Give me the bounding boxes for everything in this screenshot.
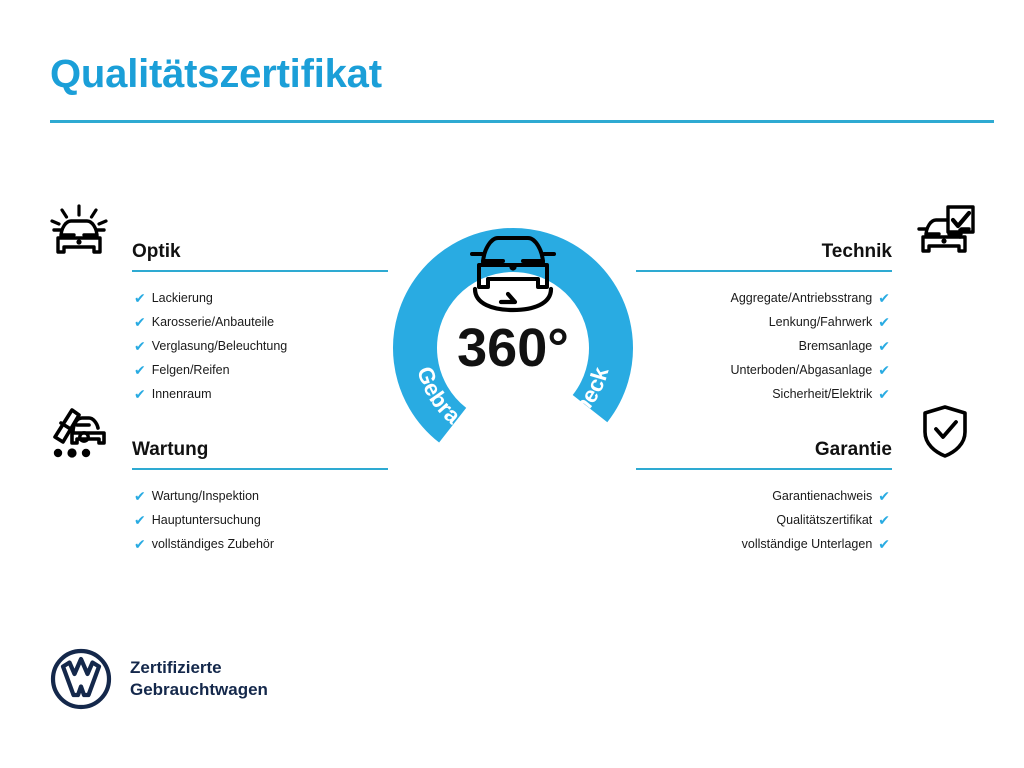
check-icon: ✔ <box>878 537 890 551</box>
list-item: Aggregate/Antriebsstrang✔ <box>636 286 976 310</box>
check-icon: ✔ <box>134 537 146 551</box>
section-garantie-title: Garantie <box>636 439 892 468</box>
section-technik-divider <box>636 270 892 272</box>
car-service-tool-icon <box>48 402 110 460</box>
section-technik-title-wrap: Technik <box>636 241 892 272</box>
section-technik-list: Aggregate/Antriebsstrang✔ Lenkung/Fahrwe… <box>636 286 976 406</box>
list-item-label: Lackierung <box>152 286 213 310</box>
check-icon: ✔ <box>878 315 890 329</box>
list-item: Qualitätszertifikat✔ <box>636 508 976 532</box>
qualitaetszertifikat-page: Qualitätszertifikat <box>0 0 1024 768</box>
page-title: Qualitätszertifikat <box>50 52 994 96</box>
section-optik-list: ✔Lackierung ✔Karosserie/Anbauteile ✔Verg… <box>48 286 388 406</box>
shield-check-icon <box>914 402 976 460</box>
list-item-label: Bremsanlage <box>799 334 873 358</box>
list-item: ✔Wartung/Inspektion <box>48 484 388 508</box>
check-icon: ✔ <box>878 339 890 353</box>
section-technik-head: Technik <box>636 200 976 272</box>
check-icon: ✔ <box>878 363 890 377</box>
section-technik-title: Technik <box>636 241 892 270</box>
section-garantie-divider <box>636 468 892 470</box>
section-wartung-divider <box>132 468 388 470</box>
section-wartung-title-wrap: Wartung <box>132 439 388 470</box>
list-item: ✔Felgen/Reifen <box>48 358 388 382</box>
list-item-label: Karosserie/Anbauteile <box>152 310 274 334</box>
section-optik-title-wrap: Optik <box>132 241 388 272</box>
list-item: ✔vollständiges Zubehör <box>48 532 388 556</box>
section-wartung-list: ✔Wartung/Inspektion ✔Hauptuntersuchung ✔… <box>48 484 388 556</box>
list-item: Garantienachweis✔ <box>636 484 976 508</box>
check-icon: ✔ <box>134 363 146 377</box>
list-item: Bremsanlage✔ <box>636 334 976 358</box>
list-item-label: vollständiges Zubehör <box>152 532 274 556</box>
list-item-label: Unterboden/Abgasanlage <box>730 358 872 382</box>
list-item-label: Lenkung/Fahrwerk <box>769 310 873 334</box>
list-item-label: Felgen/Reifen <box>152 358 230 382</box>
section-garantie: Garantie Garantienachweis✔ Qualitätszert… <box>636 398 976 556</box>
check-icon: ✔ <box>134 513 146 527</box>
check-icon: ✔ <box>134 489 146 503</box>
check-icon: ✔ <box>134 315 146 329</box>
list-item-label: Aggregate/Antriebsstrang <box>731 286 873 310</box>
section-optik-title: Optik <box>132 241 388 270</box>
section-wartung-head: Wartung <box>48 398 388 470</box>
list-item: Lenkung/Fahrwerk✔ <box>636 310 976 334</box>
page-header: Qualitätszertifikat <box>50 52 994 123</box>
list-item-label: Verglasung/Beleuchtung <box>152 334 288 358</box>
brand-line-1: Zertifizierte <box>130 657 268 679</box>
section-optik-head: Optik <box>48 200 388 272</box>
list-item-label: vollständige Unterlagen <box>742 532 873 556</box>
list-item-label: Qualitätszertifikat <box>776 508 872 532</box>
brand-line-2: Gebrauchtwagen <box>130 679 268 701</box>
list-item: vollständige Unterlagen✔ <box>636 532 976 556</box>
section-wartung-title: Wartung <box>132 439 388 468</box>
badge-360-gebrauchtwagen-check: Gebrauchtwagen-Check 360° <box>382 198 644 498</box>
list-item-label: Hauptuntersuchung <box>152 508 261 532</box>
sparkling-car-front-icon <box>48 204 110 262</box>
check-icon: ✔ <box>134 339 146 353</box>
badge-center-label: 360° <box>457 318 569 378</box>
list-item-label: Wartung/Inspektion <box>152 484 259 508</box>
check-icon: ✔ <box>878 291 890 305</box>
volkswagen-logo-icon <box>50 648 112 710</box>
list-item: ✔Lackierung <box>48 286 388 310</box>
section-optik-divider <box>132 270 388 272</box>
brand-lockup: Zertifizierte Gebrauchtwagen <box>50 648 268 710</box>
section-optik: Optik ✔Lackierung ✔Karosserie/Anbauteile… <box>48 200 388 406</box>
section-wartung: Wartung ✔Wartung/Inspektion ✔Hauptunters… <box>48 398 388 556</box>
list-item-label: Garantienachweis <box>772 484 872 508</box>
list-item: ✔Hauptuntersuchung <box>48 508 388 532</box>
check-icon: ✔ <box>878 513 890 527</box>
title-divider <box>50 120 994 123</box>
check-icon: ✔ <box>134 291 146 305</box>
section-garantie-head: Garantie <box>636 398 976 470</box>
section-garantie-list: Garantienachweis✔ Qualitätszertifikat✔ v… <box>636 484 976 556</box>
list-item: ✔Verglasung/Beleuchtung <box>48 334 388 358</box>
list-item: Unterboden/Abgasanlage✔ <box>636 358 976 382</box>
section-technik: Technik Aggregate/Antriebsstrang✔ Lenkun… <box>636 200 976 406</box>
brand-text: Zertifizierte Gebrauchtwagen <box>130 657 268 702</box>
check-icon: ✔ <box>878 489 890 503</box>
list-item: ✔Karosserie/Anbauteile <box>48 310 388 334</box>
section-garantie-title-wrap: Garantie <box>636 439 892 470</box>
car-checkbox-icon <box>914 204 976 262</box>
